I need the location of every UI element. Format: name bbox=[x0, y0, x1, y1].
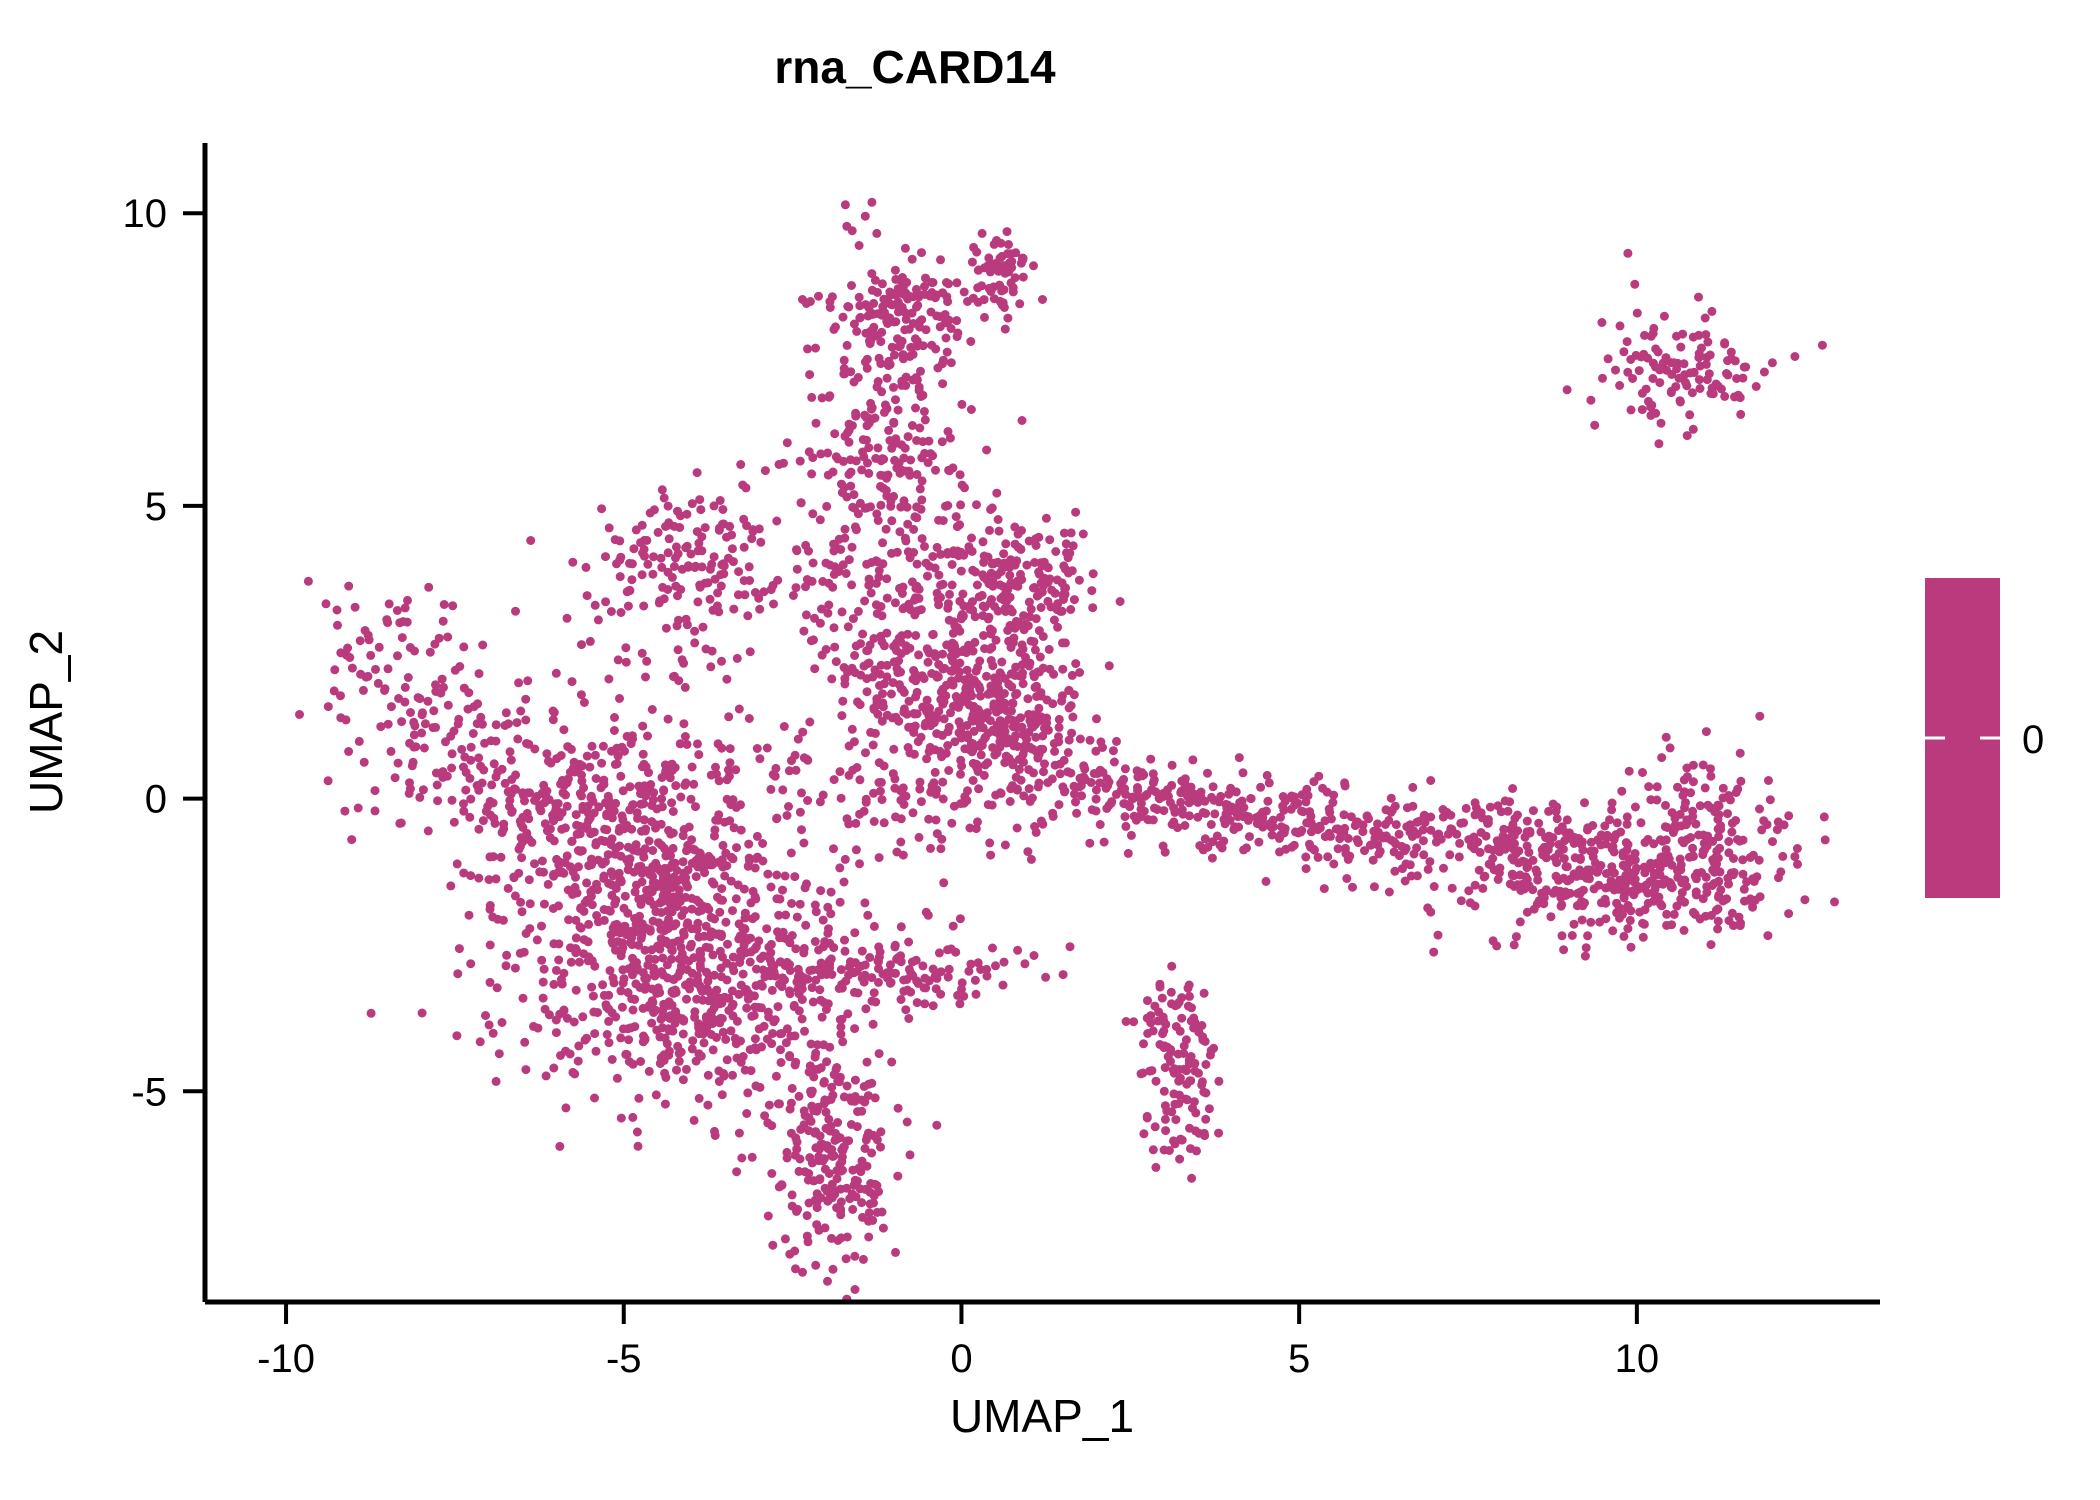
scatter-point bbox=[923, 696, 932, 705]
scatter-point bbox=[486, 941, 495, 950]
scatter-point bbox=[735, 705, 744, 714]
scatter-point bbox=[1678, 330, 1687, 339]
scatter-point bbox=[957, 761, 966, 770]
scatter-point bbox=[616, 772, 625, 781]
scatter-point bbox=[701, 523, 710, 532]
scatter-point bbox=[719, 841, 728, 850]
scatter-point bbox=[1707, 940, 1716, 949]
scatter-point bbox=[675, 1057, 684, 1066]
scatter-point bbox=[894, 298, 903, 307]
scatter-point bbox=[1006, 797, 1015, 806]
scatter-point bbox=[892, 848, 901, 857]
scatter-point bbox=[842, 493, 851, 502]
scatter-point bbox=[1604, 354, 1613, 363]
scatter-point bbox=[1287, 843, 1296, 852]
scatter-point bbox=[641, 792, 650, 801]
scatter-point bbox=[700, 1038, 709, 1047]
scatter-point bbox=[491, 737, 500, 746]
scatter-point bbox=[1124, 849, 1133, 858]
scatter-point bbox=[1686, 788, 1695, 797]
scatter-point bbox=[628, 731, 637, 740]
scatter-point bbox=[952, 512, 961, 521]
scatter-point bbox=[740, 543, 749, 552]
scatter-point bbox=[556, 1051, 565, 1060]
scatter-point bbox=[457, 745, 466, 754]
scatter-point bbox=[938, 650, 947, 659]
scatter-point bbox=[1702, 873, 1711, 882]
scatter-point bbox=[1055, 800, 1064, 809]
scatter-point bbox=[1185, 1076, 1194, 1085]
scatter-point bbox=[1623, 860, 1632, 869]
scatter-point bbox=[1774, 817, 1783, 826]
scatter-point bbox=[774, 1002, 783, 1011]
scatter-point bbox=[554, 956, 563, 965]
scatter-point bbox=[717, 964, 726, 973]
scatter-point bbox=[697, 532, 706, 541]
scatter-point bbox=[800, 753, 809, 762]
scatter-point bbox=[520, 948, 529, 957]
scatter-point bbox=[585, 763, 594, 772]
scatter-point bbox=[467, 743, 476, 752]
scatter-point bbox=[365, 635, 374, 644]
scatter-point bbox=[1089, 569, 1098, 578]
scatter-point bbox=[973, 283, 982, 292]
scatter-point bbox=[963, 786, 972, 795]
scatter-point bbox=[609, 871, 618, 880]
scatter-point bbox=[850, 1252, 859, 1261]
scatter-point bbox=[558, 808, 567, 817]
scatter-point bbox=[1096, 737, 1105, 746]
scatter-point bbox=[735, 1129, 744, 1138]
scatter-point bbox=[1340, 810, 1349, 819]
scatter-point bbox=[486, 905, 495, 914]
scatter-point bbox=[827, 1083, 836, 1092]
scatter-point bbox=[426, 648, 435, 657]
scatter-point bbox=[897, 814, 906, 823]
scatter-point bbox=[1402, 859, 1411, 868]
scatter-point bbox=[811, 937, 820, 946]
scatter-point bbox=[909, 709, 918, 718]
scatter-point bbox=[983, 708, 992, 717]
scatter-point bbox=[635, 912, 644, 921]
scatter-point bbox=[860, 807, 869, 816]
scatter-point bbox=[1702, 360, 1711, 369]
scatter-point bbox=[918, 437, 927, 446]
scatter-point bbox=[1403, 803, 1412, 812]
scatter-point bbox=[552, 669, 561, 678]
scatter-point bbox=[942, 278, 951, 287]
scatter-point bbox=[1676, 895, 1685, 904]
scatter-point bbox=[749, 887, 758, 896]
scatter-point bbox=[808, 509, 817, 518]
scatter-point bbox=[840, 878, 849, 887]
scatter-point bbox=[887, 978, 896, 987]
scatter-point bbox=[1000, 958, 1009, 967]
scatter-point bbox=[736, 460, 745, 469]
scatter-point bbox=[805, 447, 814, 456]
scatter-point bbox=[609, 974, 618, 983]
scatter-point bbox=[705, 860, 714, 869]
scatter-point bbox=[615, 536, 624, 545]
scatter-point bbox=[787, 849, 796, 858]
scatter-point bbox=[1051, 761, 1060, 770]
scatter-point bbox=[1189, 1014, 1198, 1023]
scatter-point bbox=[891, 266, 900, 275]
scatter-point bbox=[970, 638, 979, 647]
scatter-point bbox=[945, 723, 954, 732]
scatter-point bbox=[1035, 779, 1044, 788]
scatter-point bbox=[1768, 358, 1777, 367]
scatter-point bbox=[759, 587, 768, 596]
scatter-point bbox=[1610, 848, 1619, 857]
scatter-point bbox=[947, 819, 956, 828]
scatter-point bbox=[668, 907, 677, 916]
scatter-point bbox=[625, 1057, 634, 1066]
scatter-point bbox=[489, 799, 498, 808]
scatter-point bbox=[717, 657, 726, 666]
scatter-point bbox=[1651, 409, 1660, 418]
scatter-point bbox=[602, 825, 611, 834]
scatter-point bbox=[592, 1047, 601, 1056]
scatter-point bbox=[1364, 814, 1373, 823]
scatter-point bbox=[459, 642, 468, 651]
scatter-point bbox=[706, 565, 715, 574]
scatter-point bbox=[1080, 773, 1089, 782]
scatter-point bbox=[891, 275, 900, 284]
scatter-point bbox=[897, 922, 906, 931]
scatter-point bbox=[716, 570, 725, 579]
scatter-point bbox=[955, 520, 964, 529]
scatter-point bbox=[726, 758, 735, 767]
scatter-point bbox=[752, 965, 761, 974]
scatter-point bbox=[1233, 804, 1242, 813]
scatter-point bbox=[1426, 826, 1435, 835]
scatter-point bbox=[640, 1035, 649, 1044]
scatter-point bbox=[620, 747, 629, 756]
scatter-point bbox=[1714, 877, 1723, 886]
scatter-point bbox=[1821, 835, 1830, 844]
scatter-point bbox=[659, 785, 668, 794]
scatter-point bbox=[980, 552, 989, 561]
scatter-point bbox=[905, 471, 914, 480]
scatter-point bbox=[1133, 783, 1142, 792]
scatter-point bbox=[1001, 325, 1010, 334]
scatter-point bbox=[330, 665, 339, 674]
scatter-point bbox=[1121, 812, 1130, 821]
scatter-point bbox=[1143, 815, 1152, 824]
scatter-point bbox=[975, 740, 984, 749]
scatter-point bbox=[882, 486, 891, 495]
scatter-point bbox=[722, 533, 731, 542]
scatter-point bbox=[393, 606, 402, 615]
scatter-point bbox=[1738, 855, 1747, 864]
scatter-point bbox=[1594, 864, 1603, 873]
scatter-point bbox=[628, 801, 637, 810]
scatter-point bbox=[887, 444, 896, 453]
scatter-point bbox=[960, 799, 969, 808]
scatter-point bbox=[1657, 853, 1666, 862]
scatter-point bbox=[858, 630, 867, 639]
scatter-point bbox=[790, 872, 799, 881]
scatter-point bbox=[624, 602, 633, 611]
scatter-point bbox=[903, 295, 912, 304]
scatter-point bbox=[878, 538, 887, 547]
scatter-point bbox=[452, 1031, 461, 1040]
scatter-point bbox=[915, 833, 924, 842]
scatter-point bbox=[624, 865, 633, 874]
scatter-point bbox=[1181, 1095, 1190, 1104]
scatter-point bbox=[465, 911, 474, 920]
scatter-point bbox=[965, 546, 974, 555]
scatter-point bbox=[823, 449, 832, 458]
y-axis-ticks: -50510 bbox=[123, 192, 206, 1114]
scatter-point bbox=[894, 406, 903, 415]
y-axis-label: UMAP_2 bbox=[20, 630, 72, 814]
scatter-point bbox=[850, 651, 859, 660]
scatter-point bbox=[1590, 421, 1599, 430]
scatter-point bbox=[715, 1077, 724, 1086]
scatter-point bbox=[895, 527, 904, 536]
scatter-point bbox=[424, 583, 433, 592]
scatter-point bbox=[1570, 920, 1579, 929]
scatter-point bbox=[875, 758, 884, 767]
scatter-point bbox=[1679, 838, 1688, 847]
scatter-point bbox=[880, 818, 889, 827]
scatter-point bbox=[539, 978, 548, 987]
scatter-point bbox=[927, 308, 936, 317]
scatter-point bbox=[1619, 347, 1628, 356]
scatter-point bbox=[1043, 696, 1052, 705]
scatter-point bbox=[797, 498, 806, 507]
scatter-point bbox=[1161, 1042, 1170, 1051]
scatter-point bbox=[922, 559, 931, 568]
scatter-point bbox=[885, 313, 894, 322]
scatter-point bbox=[904, 938, 913, 947]
scatter-point bbox=[742, 1109, 751, 1118]
scatter-point bbox=[690, 1116, 699, 1125]
scatter-point bbox=[889, 383, 898, 392]
scatter-point bbox=[832, 1063, 841, 1072]
scatter-point bbox=[904, 432, 913, 441]
scatter-point bbox=[808, 1087, 817, 1096]
scatter-point bbox=[475, 669, 484, 678]
scatter-point bbox=[950, 802, 959, 811]
scatter-point bbox=[1035, 626, 1044, 635]
scatter-point bbox=[819, 791, 828, 800]
scatter-point bbox=[805, 1199, 814, 1208]
scatter-point bbox=[1075, 576, 1084, 585]
scatter-point bbox=[706, 932, 715, 941]
scatter-point bbox=[791, 1264, 800, 1273]
scatter-point bbox=[801, 883, 810, 892]
scatter-point bbox=[816, 515, 825, 524]
scatter-point bbox=[898, 589, 907, 598]
scatter-point bbox=[943, 945, 952, 954]
scatter-point bbox=[848, 543, 857, 552]
scatter-point bbox=[855, 301, 864, 310]
scatter-point bbox=[968, 258, 977, 267]
scatter-point bbox=[1143, 1029, 1152, 1038]
scatter-point bbox=[794, 965, 803, 974]
scatter-point bbox=[842, 1254, 851, 1263]
scatter-point bbox=[978, 229, 987, 238]
scatter-point bbox=[876, 337, 885, 346]
scatter-point bbox=[466, 795, 475, 804]
scatter-point bbox=[1070, 790, 1079, 799]
scatter-point bbox=[563, 614, 572, 623]
scatter-point bbox=[404, 673, 413, 682]
scatter-point bbox=[939, 580, 948, 589]
scatter-point bbox=[1054, 737, 1063, 746]
scatter-point bbox=[1019, 679, 1028, 688]
scatter-point bbox=[523, 676, 532, 685]
scatter-point bbox=[1139, 1129, 1148, 1138]
scatter-point bbox=[772, 517, 781, 526]
scatter-point bbox=[994, 515, 1003, 524]
scatter-point bbox=[909, 525, 918, 534]
scatter-point bbox=[727, 853, 736, 862]
scatter-point bbox=[920, 974, 929, 983]
scatter-point bbox=[473, 719, 482, 728]
scatter-point bbox=[957, 985, 966, 994]
scatter-point bbox=[1529, 806, 1538, 815]
scatter-point bbox=[915, 424, 924, 433]
scatter-point bbox=[841, 525, 850, 534]
scatter-point bbox=[678, 949, 687, 958]
scatter-point bbox=[737, 1154, 746, 1163]
scatter-point bbox=[690, 627, 699, 636]
scatter-point bbox=[1455, 852, 1464, 861]
scatter-point bbox=[1332, 825, 1341, 834]
scatter-point bbox=[1575, 900, 1584, 909]
scatter-point bbox=[830, 623, 839, 632]
scatter-point bbox=[575, 958, 584, 967]
scatter-point bbox=[1638, 405, 1647, 414]
scatter-point bbox=[621, 643, 630, 652]
scatter-point bbox=[1639, 933, 1648, 942]
scatter-point bbox=[1793, 860, 1802, 869]
scatter-point bbox=[868, 403, 877, 412]
scatter-point bbox=[764, 1212, 773, 1221]
scatter-point bbox=[1323, 852, 1332, 861]
scatter-point bbox=[984, 800, 993, 809]
scatter-point bbox=[710, 552, 719, 561]
scatter-point bbox=[855, 775, 864, 784]
scatter-point bbox=[916, 484, 925, 493]
scatter-point bbox=[853, 989, 862, 998]
scatter-point bbox=[336, 691, 345, 700]
scatter-point bbox=[999, 981, 1008, 990]
scatter-point bbox=[356, 670, 365, 679]
scatter-point bbox=[863, 1058, 872, 1067]
colorbar-legend[interactable]: 0 bbox=[1925, 578, 2044, 898]
scatter-point bbox=[478, 779, 487, 788]
scatter-point bbox=[718, 1014, 727, 1023]
scatter-point bbox=[1167, 962, 1176, 971]
scatter-point bbox=[1424, 865, 1433, 874]
scatter-point bbox=[702, 645, 711, 654]
scatter-point bbox=[985, 579, 994, 588]
scatter-point bbox=[912, 285, 921, 294]
scatter-point bbox=[912, 502, 921, 511]
scatter-point bbox=[604, 991, 613, 1000]
scatter-point bbox=[737, 826, 746, 835]
scatter-point bbox=[867, 589, 876, 598]
scatter-point bbox=[1662, 921, 1671, 930]
scatter-point bbox=[1335, 834, 1344, 843]
scatter-point bbox=[986, 851, 995, 860]
scatter-point bbox=[849, 614, 858, 623]
scatter-point bbox=[804, 1126, 813, 1135]
scatter-point bbox=[837, 711, 846, 720]
scatter-point bbox=[877, 456, 886, 465]
scatter-point bbox=[863, 421, 872, 430]
scatter-point bbox=[592, 774, 601, 783]
scatter-point bbox=[836, 898, 845, 907]
scatter-point bbox=[780, 722, 789, 731]
scatter-point bbox=[784, 802, 793, 811]
scatter-point bbox=[681, 683, 690, 692]
scatter-point bbox=[709, 1045, 718, 1054]
scatter-point bbox=[681, 981, 690, 990]
scatter-point bbox=[952, 278, 961, 287]
scatter-point bbox=[721, 918, 730, 927]
scatter-point bbox=[811, 1261, 820, 1270]
scatter-point bbox=[522, 739, 531, 748]
scatter-point bbox=[671, 553, 680, 562]
scatter-point bbox=[446, 732, 455, 741]
scatter-point bbox=[837, 794, 846, 803]
scatter-point bbox=[1583, 931, 1592, 940]
scatter-point bbox=[1694, 353, 1703, 362]
scatter-point bbox=[1495, 864, 1504, 873]
scatter-point bbox=[1680, 926, 1689, 935]
scatter-point bbox=[1623, 337, 1632, 346]
scatter-point bbox=[960, 690, 969, 699]
scatter-point bbox=[617, 1114, 626, 1123]
scatter-point bbox=[493, 983, 502, 992]
scatter-point bbox=[1019, 758, 1028, 767]
scatter-point bbox=[987, 595, 996, 604]
scatter-point bbox=[1027, 855, 1036, 864]
scatter-point bbox=[796, 457, 805, 466]
scatter-point bbox=[1408, 783, 1417, 792]
scatter-point bbox=[843, 1233, 852, 1242]
scatter-point bbox=[655, 988, 664, 997]
scatter-point bbox=[431, 680, 440, 689]
scatter-point bbox=[824, 579, 833, 588]
scatter-point bbox=[1407, 872, 1416, 881]
scatter-point bbox=[830, 570, 839, 579]
scatter-point bbox=[1201, 1089, 1210, 1098]
scatter-point bbox=[890, 942, 899, 951]
scatter-point bbox=[537, 956, 546, 965]
scatter-point bbox=[767, 1039, 776, 1048]
scatter-point bbox=[878, 795, 887, 804]
scatter-point bbox=[1637, 818, 1646, 827]
scatter-point bbox=[1100, 838, 1109, 847]
scatter-point bbox=[1426, 776, 1435, 785]
scatter-point bbox=[1419, 836, 1428, 845]
scatter-point bbox=[1455, 839, 1464, 848]
scatter-point bbox=[943, 550, 952, 559]
scatter-point bbox=[638, 878, 647, 887]
scatter-point bbox=[671, 859, 680, 868]
scatter-point bbox=[578, 846, 587, 855]
scatter-point bbox=[806, 1061, 815, 1070]
scatter-point bbox=[597, 504, 606, 513]
scatter-point bbox=[671, 1019, 680, 1028]
